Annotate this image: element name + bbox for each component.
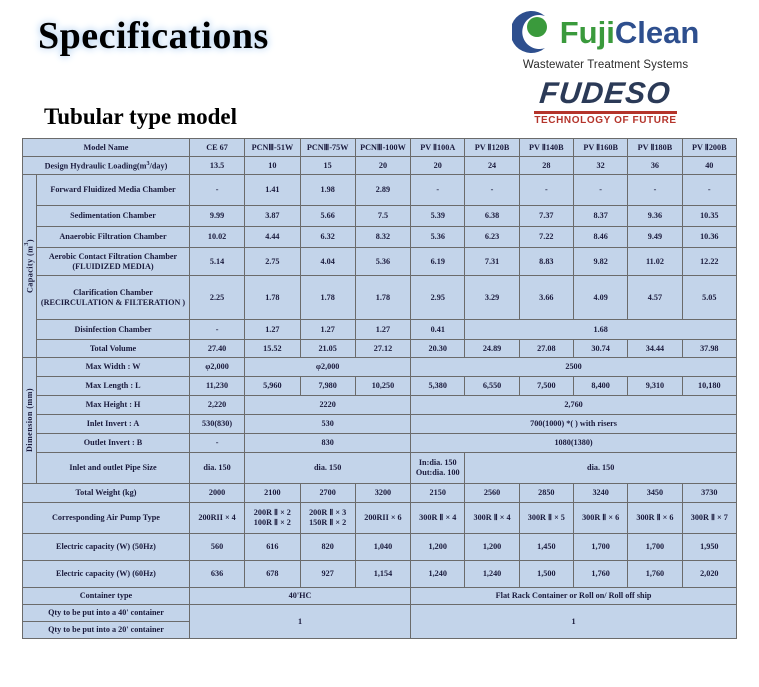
cell-capacity-1-5: 6.38 (465, 206, 519, 227)
cell-total-volume-9: 37.98 (682, 340, 736, 358)
cell-capacity-3-5: 7.31 (465, 248, 519, 276)
row-label-capacity-2: Anaerobic Filtration Chamber (37, 227, 190, 248)
cell-dimension-4-0: - (189, 434, 244, 453)
cell-electric-50hz-1: 616 (245, 534, 300, 561)
cell-total-weight-3: 3200 (355, 484, 410, 503)
cell-disinfection-4: 0.41 (411, 320, 465, 340)
cell-dimension-2-1: 2220 (245, 396, 411, 415)
cell-electric-60hz-0: 636 (189, 561, 244, 588)
fudeso-tagline: TECHNOLOGY OF FUTURE (534, 115, 676, 126)
cell-air-pump-3: 200RII × 6 (355, 503, 410, 534)
table-row: Sedimentation Chamber9.993.875.667.55.39… (23, 206, 737, 227)
cell-capacity-0-8: - (628, 175, 682, 206)
table-row: Dimension (mm)Max Width : Wφ2,000φ2,0002… (23, 358, 737, 377)
cell-air-pump-2: 200R Ⅱ × 3150R Ⅱ × 2 (300, 503, 355, 534)
cell-total-volume-3: 27.12 (355, 340, 410, 358)
cell-electric-60hz-5: 1,240 (465, 561, 519, 588)
table-row: Total Volume27.4015.5221.0527.1220.3024.… (23, 340, 737, 358)
cell-total-volume-6: 27.08 (519, 340, 573, 358)
cell-total-weight-6: 2850 (519, 484, 573, 503)
table-row: Capacity (m3)Forward Fluidized Media Cha… (23, 175, 737, 206)
table-row: Electric capacity (W) (50Hz)5606168201,0… (23, 534, 737, 561)
cell-electric-60hz-7: 1,760 (573, 561, 627, 588)
row-label-disinfection: Disinfection Chamber (37, 320, 190, 340)
brand-secondary: Clean (615, 15, 699, 50)
cell-capacity-4-9: 5.05 (682, 276, 736, 320)
cell-disinfection-0: - (189, 320, 244, 340)
cell-capacity-4-4: 2.95 (411, 276, 465, 320)
table-row: Container type40'HCFlat Rack Container o… (23, 588, 737, 605)
cell-electric-50hz-8: 1,700 (628, 534, 682, 561)
cell-dimension-2-0: 2,220 (189, 396, 244, 415)
cell-dimension-1-4: 5,380 (411, 377, 465, 396)
specifications-table: Model NameCE 67PCNⅢ-51WPCNⅢ-75WPCNⅢ-100W… (22, 138, 737, 639)
section-subtitle: Tubular type model (44, 104, 237, 130)
column-header-model-4: PV Ⅱ100A (411, 139, 465, 157)
cell-disinfection-3: 1.27 (355, 320, 410, 340)
row-header-hydraulic-loading: Design Hydraulic Loading(m3/day) (23, 157, 190, 175)
row-label-dimension-3: Inlet Invert : A (37, 415, 190, 434)
side-label-dimension: Dimension (mm) (23, 358, 37, 484)
cell-container-type-right: Flat Rack Container or Roll on/ Roll off… (411, 588, 737, 605)
cell-electric-60hz-3: 1,154 (355, 561, 410, 588)
cell-capacity-2-1: 4.44 (245, 227, 300, 248)
row-label-capacity-0: Forward Fluidized Media Chamber (37, 175, 190, 206)
column-header-model-6: PV Ⅱ140B (519, 139, 573, 157)
cell-total-volume-7: 30.74 (573, 340, 627, 358)
cell-total-volume-8: 34.44 (628, 340, 682, 358)
table-row: Corresponding Air Pump Type200RII × 4200… (23, 503, 737, 534)
cell-electric-60hz-2: 927 (300, 561, 355, 588)
cell-capacity-1-4: 5.39 (411, 206, 465, 227)
cell-dimension-0-1: φ2,000 (245, 358, 411, 377)
cell-capacity-0-2: 1.98 (300, 175, 355, 206)
row-label-dimension-0: Max Width : W (37, 358, 190, 377)
cell-capacity-0-4: - (411, 175, 465, 206)
cell-capacity-2-3: 8.32 (355, 227, 410, 248)
cell-capacity-0-9: - (682, 175, 736, 206)
cell-dimension-1-5: 6,550 (465, 377, 519, 396)
fudeso-divider (534, 111, 676, 114)
column-header-model-name: Model Name (23, 139, 190, 157)
cell-total-volume-0: 27.40 (189, 340, 244, 358)
fujiclean-wordmark: FujiClean (560, 17, 700, 48)
cell-capacity-0-1: 1.41 (245, 175, 300, 206)
row-label-air-pump: Corresponding Air Pump Type (23, 503, 190, 534)
cell-air-pump-5: 300R Ⅱ × 4 (465, 503, 519, 534)
cell-total-weight-2: 2700 (300, 484, 355, 503)
cell-disinfection-2: 1.27 (300, 320, 355, 340)
cell-capacity-2-8: 9.49 (628, 227, 682, 248)
cell-air-pump-6: 300R Ⅱ × 5 (519, 503, 573, 534)
cell-capacity-2-0: 10.02 (189, 227, 244, 248)
cell-electric-50hz-4: 1,200 (411, 534, 465, 561)
cell-electric-50hz-0: 560 (189, 534, 244, 561)
fujiclean-logo: FujiClean (498, 8, 713, 56)
cell-electric-60hz-4: 1,240 (411, 561, 465, 588)
cell-capacity-1-3: 7.5 (355, 206, 410, 227)
cell-total-volume-4: 20.30 (411, 340, 465, 358)
cell-total-volume-2: 21.05 (300, 340, 355, 358)
cell-dimension-5-1: dia. 150 (245, 453, 411, 484)
cell-capacity-0-0: - (189, 175, 244, 206)
table-body: Model NameCE 67PCNⅢ-51WPCNⅢ-75WPCNⅢ-100W… (23, 139, 737, 639)
cell-air-pump-8: 300R Ⅱ × 6 (628, 503, 682, 534)
cell-dimension-1-8: 9,310 (628, 377, 682, 396)
cell-qty-right: 1 (411, 605, 737, 639)
cell-capacity-2-5: 6.23 (465, 227, 519, 248)
cell-capacity-4-6: 3.66 (519, 276, 573, 320)
column-header-model-7: PV Ⅱ160B (573, 139, 627, 157)
cell-total-weight-5: 2560 (465, 484, 519, 503)
row-label-electric-50hz: Electric capacity (W) (50Hz) (23, 534, 190, 561)
row-label-total-weight: Total Weight (kg) (23, 484, 190, 503)
cell-dimension-3-1: 530 (245, 415, 411, 434)
row-label-capacity-3: Aerobic Contact Filtration Chamber (FLUI… (37, 248, 190, 276)
cell-qty-left: 1 (189, 605, 410, 639)
brand-logo-area: FujiClean Wastewater Treatment Systems F… (498, 8, 713, 128)
cell-capacity-3-2: 4.04 (300, 248, 355, 276)
cell-dimension-4-1: 830 (245, 434, 411, 453)
row-label-container-type: Container type (23, 588, 190, 605)
cell-capacity-3-7: 9.82 (573, 248, 627, 276)
row-label-dimension-1: Max Length : L (37, 377, 190, 396)
cell-total-volume-5: 24.89 (465, 340, 519, 358)
cell-hydraulic-loading-9: 40 (682, 157, 736, 175)
cell-capacity-2-2: 6.32 (300, 227, 355, 248)
cell-dimension-1-2: 7,980 (300, 377, 355, 396)
cell-hydraulic-loading-0: 13.5 (189, 157, 244, 175)
cell-electric-60hz-8: 1,760 (628, 561, 682, 588)
cell-capacity-2-7: 8.46 (573, 227, 627, 248)
cell-electric-50hz-9: 1,950 (682, 534, 736, 561)
cell-dimension-5-2: In:dia. 150Out:dia. 100 (411, 453, 465, 484)
cell-dimension-0-2: 2500 (411, 358, 737, 377)
table-row: Max Height : H2,22022202,760 (23, 396, 737, 415)
table-row: Disinfection Chamber-1.271.271.270.411.6… (23, 320, 737, 340)
cell-hydraulic-loading-7: 32 (573, 157, 627, 175)
cell-hydraulic-loading-3: 20 (355, 157, 410, 175)
column-header-model-2: PCNⅢ-75W (300, 139, 355, 157)
cell-capacity-1-2: 5.66 (300, 206, 355, 227)
table-row: Electric capacity (W) (60Hz)6366789271,1… (23, 561, 737, 588)
cell-dimension-1-3: 10,250 (355, 377, 410, 396)
cell-total-weight-7: 3240 (573, 484, 627, 503)
table-row: Inlet Invert : A530(830)530700(1000) *( … (23, 415, 737, 434)
cell-electric-60hz-6: 1,500 (519, 561, 573, 588)
cell-hydraulic-loading-4: 20 (411, 157, 465, 175)
cell-electric-60hz-1: 678 (245, 561, 300, 588)
cell-capacity-1-7: 8.37 (573, 206, 627, 227)
cell-dimension-2-2: 2,760 (411, 396, 737, 415)
cell-air-pump-7: 300R Ⅱ × 6 (573, 503, 627, 534)
cell-total-weight-8: 3450 (628, 484, 682, 503)
table-row: Qty to be put into a 40' container11 (23, 605, 737, 622)
cell-disinfection-merged: 1.68 (465, 320, 737, 340)
cell-hydraulic-loading-6: 28 (519, 157, 573, 175)
cell-dimension-4-2: 1080(1380) (411, 434, 737, 453)
cell-dimension-5-3: dia. 150 (465, 453, 737, 484)
cell-air-pump-1: 200R Ⅱ × 2100R Ⅱ × 2 (245, 503, 300, 534)
cell-capacity-3-0: 5.14 (189, 248, 244, 276)
cell-capacity-1-9: 10.35 (682, 206, 736, 227)
cell-capacity-4-2: 1.78 (300, 276, 355, 320)
column-header-model-8: PV Ⅱ180B (628, 139, 682, 157)
row-label-electric-60hz: Electric capacity (W) (60Hz) (23, 561, 190, 588)
table-row: Inlet and outlet Pipe Sizedia. 150dia. 1… (23, 453, 737, 484)
cell-electric-50hz-5: 1,200 (465, 534, 519, 561)
row-label-qty-40ft: Qty to be put into a 40' container (23, 605, 190, 622)
cell-air-pump-9: 300R Ⅱ × 7 (682, 503, 736, 534)
fudeso-logo: FUDESO TECHNOLOGY OF FUTURE (534, 80, 676, 126)
column-header-model-1: PCNⅢ-51W (245, 139, 300, 157)
row-label-capacity-4: Clarification Chamber (RECIRCULATION & F… (37, 276, 190, 320)
cell-disinfection-1: 1.27 (245, 320, 300, 340)
row-label-total-volume: Total Volume (37, 340, 190, 358)
cell-total-weight-4: 2150 (411, 484, 465, 503)
cell-capacity-4-8: 4.57 (628, 276, 682, 320)
side-label-capacity: Capacity (m3) (23, 175, 37, 358)
cell-hydraulic-loading-8: 36 (628, 157, 682, 175)
cell-total-weight-1: 2100 (245, 484, 300, 503)
table-row: Model NameCE 67PCNⅢ-51WPCNⅢ-75WPCNⅢ-100W… (23, 139, 737, 157)
cell-capacity-0-3: 2.89 (355, 175, 410, 206)
column-header-model-9: PV Ⅱ200B (682, 139, 736, 157)
cell-electric-60hz-9: 2,020 (682, 561, 736, 588)
row-label-capacity-1: Sedimentation Chamber (37, 206, 190, 227)
cell-electric-50hz-6: 1,450 (519, 534, 573, 561)
cell-dimension-1-7: 8,400 (573, 377, 627, 396)
cell-total-weight-9: 3730 (682, 484, 736, 503)
cell-capacity-3-9: 12.22 (682, 248, 736, 276)
cell-capacity-1-6: 7.37 (519, 206, 573, 227)
cell-total-volume-1: 15.52 (245, 340, 300, 358)
cell-air-pump-0: 200RII × 4 (189, 503, 244, 534)
fujiclean-mark-icon (512, 10, 556, 54)
cell-electric-50hz-7: 1,700 (573, 534, 627, 561)
cell-capacity-4-0: 2.25 (189, 276, 244, 320)
cell-capacity-3-4: 6.19 (411, 248, 465, 276)
cell-electric-50hz-2: 820 (300, 534, 355, 561)
column-header-model-5: PV Ⅱ120B (465, 139, 519, 157)
cell-capacity-1-1: 3.87 (245, 206, 300, 227)
table-row: Anaerobic Filtration Chamber10.024.446.3… (23, 227, 737, 248)
table-row: Outlet Invert : B-8301080(1380) (23, 434, 737, 453)
row-label-dimension-5: Inlet and outlet Pipe Size (37, 453, 190, 484)
cell-dimension-1-1: 5,960 (245, 377, 300, 396)
table-row: Clarification Chamber (RECIRCULATION & F… (23, 276, 737, 320)
cell-dimension-1-6: 7,500 (519, 377, 573, 396)
cell-dimension-1-9: 10,180 (682, 377, 736, 396)
specifications-page: Specifications Tubular type model FujiCl… (0, 0, 759, 687)
cell-hydraulic-loading-1: 10 (245, 157, 300, 175)
cell-capacity-3-8: 11.02 (628, 248, 682, 276)
cell-dimension-3-0: 530(830) (189, 415, 244, 434)
cell-hydraulic-loading-2: 15 (300, 157, 355, 175)
cell-capacity-0-5: - (465, 175, 519, 206)
cell-capacity-4-5: 3.29 (465, 276, 519, 320)
cell-capacity-4-7: 4.09 (573, 276, 627, 320)
column-header-model-3: PCNⅢ-100W (355, 139, 410, 157)
cell-capacity-3-6: 8.83 (519, 248, 573, 276)
cell-capacity-2-6: 7.22 (519, 227, 573, 248)
cell-capacity-3-3: 5.36 (355, 248, 410, 276)
cell-capacity-4-1: 1.78 (245, 276, 300, 320)
cell-capacity-2-4: 5.36 (411, 227, 465, 248)
cell-dimension-0-0: φ2,000 (189, 358, 244, 377)
cell-dimension-5-0: dia. 150 (189, 453, 244, 484)
column-header-model-0: CE 67 (189, 139, 244, 157)
cell-total-weight-0: 2000 (189, 484, 244, 503)
table-row: Design Hydraulic Loading(m3/day)13.51015… (23, 157, 737, 175)
fudeso-wordmark: FUDESO (533, 80, 678, 109)
row-label-dimension-2: Max Height : H (37, 396, 190, 415)
cell-capacity-2-9: 10.36 (682, 227, 736, 248)
cell-capacity-1-0: 9.99 (189, 206, 244, 227)
cell-capacity-1-8: 9.36 (628, 206, 682, 227)
brand-tagline: Wastewater Treatment Systems (498, 59, 713, 71)
cell-hydraulic-loading-5: 24 (465, 157, 519, 175)
cell-capacity-0-6: - (519, 175, 573, 206)
cell-container-type-left: 40'HC (189, 588, 410, 605)
cell-capacity-0-7: - (573, 175, 627, 206)
cell-air-pump-4: 300R Ⅱ × 4 (411, 503, 465, 534)
cell-electric-50hz-3: 1,040 (355, 534, 410, 561)
page-title: Specifications (38, 14, 269, 58)
brand-primary: Fuji (560, 15, 615, 50)
table-row: Total Weight (kg)20002100270032002150256… (23, 484, 737, 503)
cell-capacity-4-3: 1.78 (355, 276, 410, 320)
cell-dimension-1-0: 11,230 (189, 377, 244, 396)
table-row: Aerobic Contact Filtration Chamber (FLUI… (23, 248, 737, 276)
cell-capacity-3-1: 2.75 (245, 248, 300, 276)
row-label-qty-20ft: Qty to be put into a 20' container (23, 622, 190, 639)
cell-dimension-3-2: 700(1000) *( ) with risers (411, 415, 737, 434)
row-label-dimension-4: Outlet Invert : B (37, 434, 190, 453)
table-row: Max Length : L11,2305,9607,98010,2505,38… (23, 377, 737, 396)
